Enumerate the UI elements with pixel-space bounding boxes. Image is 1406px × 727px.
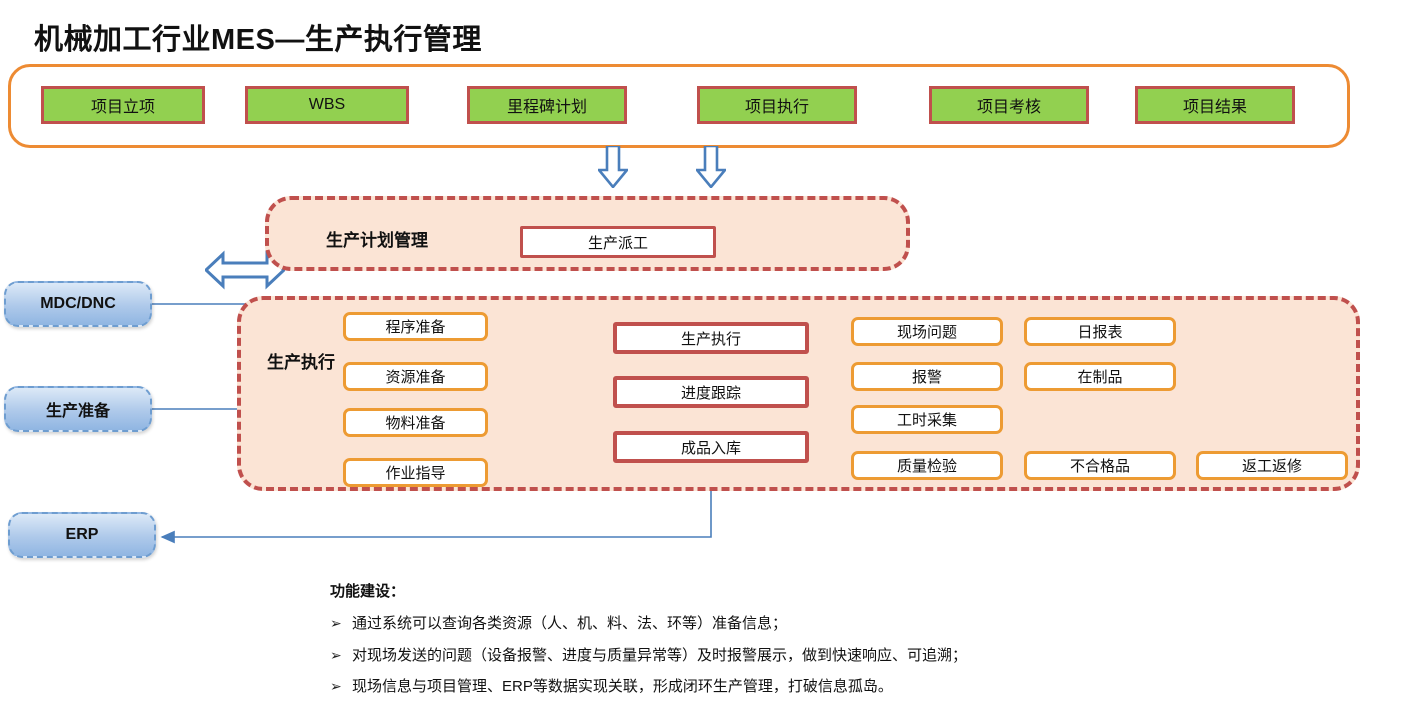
bullet-arrow-icon: ➢ (330, 614, 352, 632)
execution-flow-node[interactable]: 生产执行 (613, 322, 809, 354)
lifecycle-button[interactable]: 里程碑计划 (467, 86, 627, 124)
preparation-node[interactable]: 资源准备 (343, 362, 488, 391)
lifecycle-button[interactable]: 项目结果 (1135, 86, 1295, 124)
output-node[interactable]: 日报表 (1024, 317, 1176, 346)
notes-heading: 功能建设： (330, 580, 1390, 601)
project-lifecycle-bar: 项目立项WBS里程碑计划项目执行项目考核项目结果 (8, 64, 1350, 148)
lifecycle-button[interactable]: 项目立项 (41, 86, 205, 124)
notes-section: 功能建设： ➢通过系统可以查询各类资源（人、机、料、法、环等）准备信息；➢对现场… (330, 580, 1390, 709)
note-text: 对现场发送的问题（设备报警、进度与质量异常等）及时报警展示，做到快速响应、可追溯… (352, 646, 967, 666)
bullet-arrow-icon: ➢ (330, 646, 352, 664)
execution-flow-node[interactable]: 进度跟踪 (613, 376, 809, 408)
external-system-node[interactable]: 生产准备 (4, 386, 152, 432)
output-node[interactable]: 返工返修 (1196, 451, 1348, 480)
output-node[interactable]: 不合格品 (1024, 451, 1176, 480)
output-node[interactable]: 报警 (851, 362, 1003, 391)
note-item: ➢对现场发送的问题（设备报警、进度与质量异常等）及时报警展示，做到快速响应、可追… (330, 646, 1390, 666)
preparation-node[interactable]: 程序准备 (343, 312, 488, 341)
external-system-node[interactable]: ERP (8, 512, 156, 558)
lifecycle-button[interactable]: WBS (245, 86, 409, 124)
note-item: ➢通过系统可以查询各类资源（人、机、料、法、环等）准备信息； (330, 614, 1390, 634)
note-item: ➢现场信息与项目管理、ERP等数据实现关联，形成闭环生产管理，打破信息孤岛。 (330, 677, 1390, 697)
down-arrow-icon-1 (598, 146, 628, 188)
output-node[interactable]: 现场问题 (851, 317, 1003, 346)
production-exec-label: 生产执行 (267, 348, 335, 373)
down-arrow-icon-2 (696, 146, 726, 188)
note-text: 现场信息与项目管理、ERP等数据实现关联，形成闭环生产管理，打破信息孤岛。 (352, 677, 893, 697)
lifecycle-button[interactable]: 项目考核 (929, 86, 1089, 124)
note-text: 通过系统可以查询各类资源（人、机、料、法、环等）准备信息； (352, 614, 787, 634)
external-system-node[interactable]: MDC/DNC (4, 281, 152, 327)
bullet-arrow-icon: ➢ (330, 677, 352, 695)
preparation-node[interactable]: 物料准备 (343, 408, 488, 437)
execution-flow-node[interactable]: 成品入库 (613, 431, 809, 463)
output-node[interactable]: 质量检验 (851, 451, 1003, 480)
production-plan-label: 生产计划管理 (326, 226, 428, 251)
preparation-node[interactable]: 作业指导 (343, 458, 488, 487)
output-node[interactable]: 在制品 (1024, 362, 1176, 391)
plan-node[interactable]: 生产派工 (520, 226, 716, 258)
output-node[interactable]: 工时采集 (851, 405, 1003, 434)
lifecycle-button[interactable]: 项目执行 (697, 86, 857, 124)
page-title: 机械加工行业MES—生产执行管理 (34, 16, 482, 58)
